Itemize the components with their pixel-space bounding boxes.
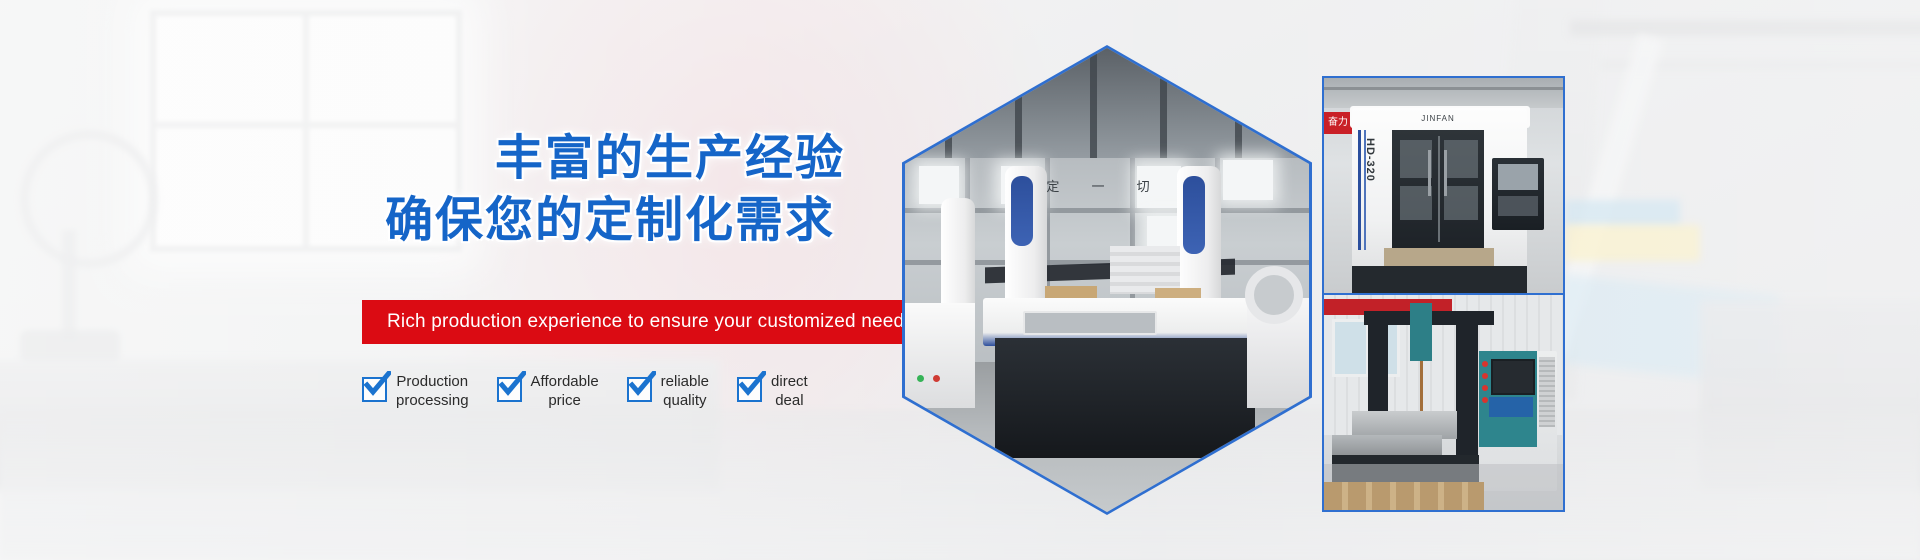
- machine-column-mid-left: [1005, 166, 1047, 316]
- feature-item-direct-deal: directdeal: [737, 372, 808, 410]
- feature-item-reliable-quality: reliablequality: [627, 372, 709, 410]
- subtitle-bar: Rich production experience to ensure you…: [362, 300, 905, 344]
- factory-wall-sign: 定 一 切: [1025, 176, 1185, 198]
- checkbox-checked-icon: [497, 377, 522, 402]
- checkbox-checked-icon: [737, 377, 762, 402]
- machine-table-window: [1023, 311, 1157, 335]
- checkbox-checked-icon: [627, 377, 652, 402]
- headline: 丰富的生产经验 确保您的定制化需求: [0, 128, 845, 252]
- machine-model-label: HD-320: [1360, 138, 1376, 210]
- feature-item-affordable-price: Affordableprice: [497, 372, 599, 410]
- machine-base: [995, 338, 1255, 458]
- machine-left-unit: [905, 303, 975, 408]
- machine-brand-label: JINFAN: [1408, 114, 1468, 123]
- feature-item-production-processing: Productionprocessing: [362, 372, 469, 410]
- headline-line-1: 丰富的生产经验: [0, 128, 845, 190]
- hexagon-photo-content: 定 一 切: [905, 48, 1309, 512]
- machine-column-left: [941, 198, 975, 316]
- main-product-photo-hexagon: 定 一 切: [902, 45, 1312, 515]
- feature-list: Productionprocessing Affordableprice rel…: [362, 372, 907, 432]
- checkbox-checked-icon: [362, 377, 387, 402]
- subtitle-text: Rich production experience to ensure you…: [362, 311, 914, 333]
- thumbnail-edm-machine[interactable]: [1322, 293, 1565, 512]
- feature-label: reliablequality: [661, 372, 709, 410]
- feature-label: directdeal: [771, 372, 808, 410]
- machine-stacked-material: [1110, 246, 1180, 294]
- feature-label: Productionprocessing: [396, 372, 469, 410]
- hero-banner: 丰富的生产经验 确保您的定制化需求 Rich production experi…: [0, 0, 1920, 560]
- factory-ceiling: [905, 48, 1309, 168]
- headline-line-2: 确保您的定制化需求: [0, 190, 845, 252]
- machine-coil-reel: [1245, 266, 1303, 324]
- feature-label: Affordableprice: [531, 372, 599, 410]
- thumbnail-machining-center[interactable]: 奋力 HD-320 JINFAN: [1322, 76, 1565, 295]
